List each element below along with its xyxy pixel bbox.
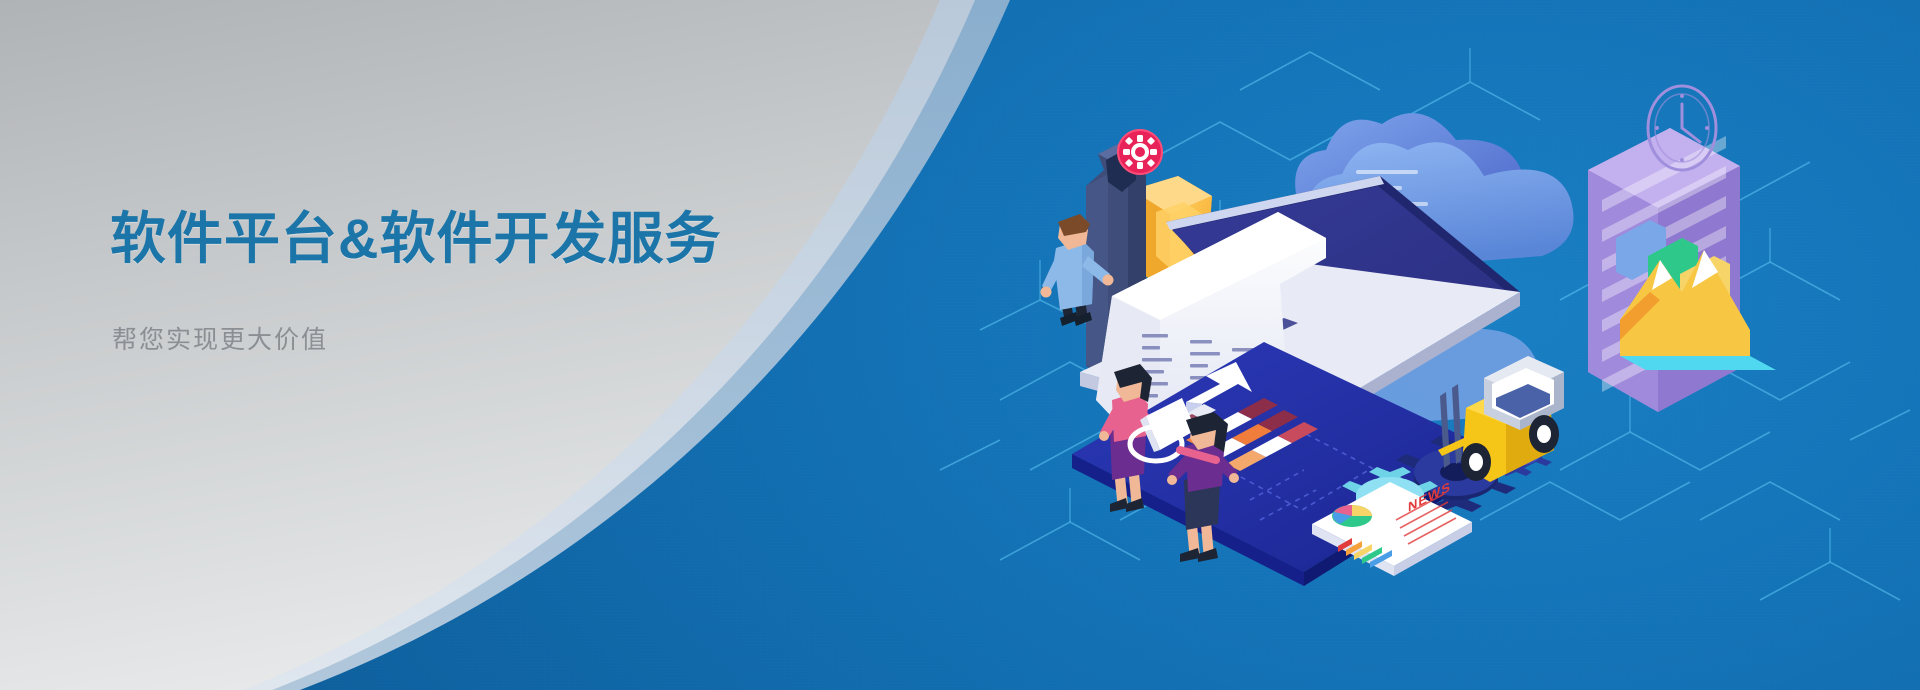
- hero-text-block: 软件平台&软件开发服务 帮您实现更大价值: [110, 205, 721, 356]
- gear-badge-icon: [1118, 130, 1162, 174]
- pie-chart-mini: [1332, 505, 1372, 527]
- page-subtitle: 帮您实现更大价值: [112, 320, 721, 356]
- hero-banner: NEWS: [0, 0, 1920, 690]
- page-title: 软件平台&软件开发服务: [110, 205, 721, 272]
- isometric-illustration: NEWS: [860, 0, 1920, 690]
